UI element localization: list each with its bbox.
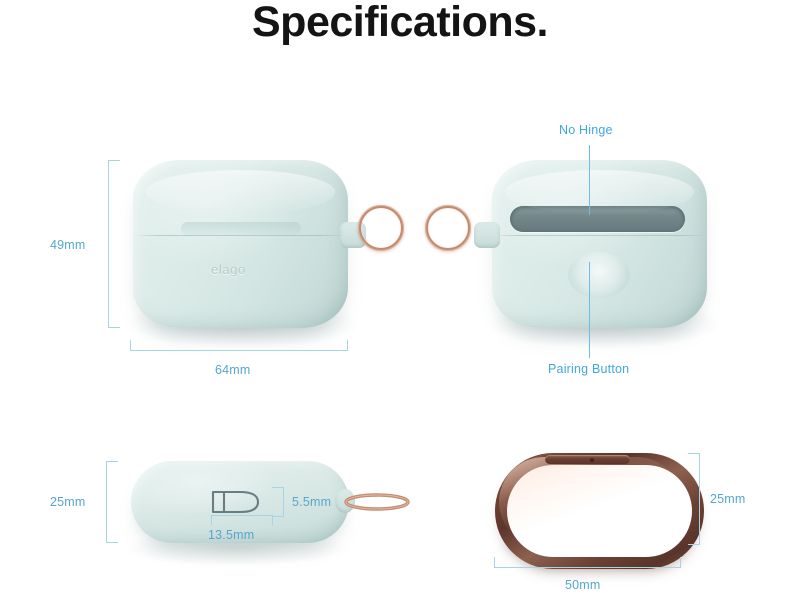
- bottom-keyring-icon: [344, 491, 410, 513]
- carabiner-body: [495, 453, 704, 569]
- port-height-label: 5.5mm: [292, 495, 331, 509]
- front-width-bracket: [130, 340, 348, 351]
- port-height-bracket: [272, 487, 284, 517]
- front-width-label: 64mm: [215, 363, 251, 377]
- front-keyring-icon: [358, 205, 404, 251]
- port-width-label: 13.5mm: [208, 528, 254, 542]
- carabiner-width-label: 50mm: [565, 578, 601, 592]
- back-ring-tab: [474, 222, 500, 248]
- carabiner-gate: [545, 455, 630, 464]
- pairing-button-dimple: [568, 252, 630, 298]
- back-case-body: [492, 160, 707, 328]
- front-case-seam: [133, 235, 348, 236]
- hinge-slot: [510, 206, 685, 232]
- callout-line-no-hinge: [589, 145, 590, 215]
- bottom-depth-bracket: [106, 461, 118, 543]
- port-width-bracket: [211, 515, 273, 525]
- front-height-label: 49mm: [50, 238, 86, 252]
- carabiner-height-label: 25mm: [710, 492, 746, 506]
- front-lid-ridge: [181, 222, 301, 235]
- front-height-bracket: [108, 160, 120, 328]
- back-keyring-icon: [425, 205, 471, 251]
- callout-label-pairing-button: Pairing Button: [548, 362, 629, 376]
- bottom-depth-label: 25mm: [50, 495, 86, 509]
- callout-line-pairing-button: [589, 262, 590, 358]
- callout-label-no-hinge: No Hinge: [559, 123, 613, 137]
- back-case-seam: [492, 235, 707, 236]
- carabiner-width-bracket: [494, 557, 681, 568]
- front-case-body: elago: [133, 160, 348, 328]
- brand-logo: elago: [211, 262, 246, 277]
- carabiner-pin-icon: [590, 458, 594, 462]
- page-title: Specifications.: [0, 0, 800, 47]
- charging-port-icon: [210, 487, 268, 517]
- carabiner-height-bracket: [688, 453, 700, 545]
